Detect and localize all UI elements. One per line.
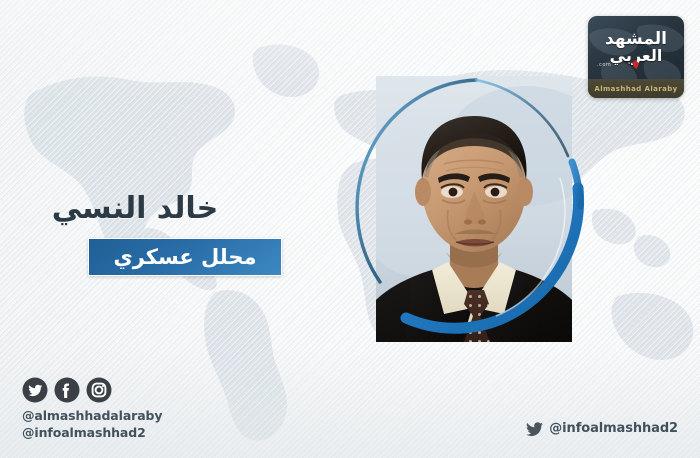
- footer-handle[interactable]: @infoalmashhad2: [549, 420, 678, 438]
- social-handle-secondary[interactable]: @infoalmashhad2: [22, 425, 262, 442]
- broadcast-lower-third-card: المشهد العربي .com Almashhad Alaraby: [0, 0, 700, 458]
- logo-arabic-text: المشهد العربي: [588, 30, 684, 65]
- logo-latin-name: Almashhad Alaraby: [594, 85, 677, 93]
- facebook-icon[interactable]: [54, 377, 80, 403]
- instagram-icon[interactable]: [86, 377, 112, 403]
- social-handle-primary[interactable]: @almashhadalaraby: [22, 408, 262, 425]
- person-title: محلل عسكري: [113, 247, 256, 268]
- portrait-ring-icon: [346, 66, 606, 348]
- footer-social: @infoalmashhad2: [526, 420, 678, 438]
- social-block: @almashhadalaraby @infoalmashhad2: [22, 377, 262, 442]
- social-icon-row: [22, 377, 262, 403]
- twitter-icon[interactable]: [526, 422, 543, 437]
- person-title-banner: محلل عسكري: [88, 238, 282, 276]
- person-name: خالد النسي: [0, 192, 280, 226]
- twitter-icon[interactable]: [22, 377, 48, 403]
- portrait-container: [352, 72, 600, 342]
